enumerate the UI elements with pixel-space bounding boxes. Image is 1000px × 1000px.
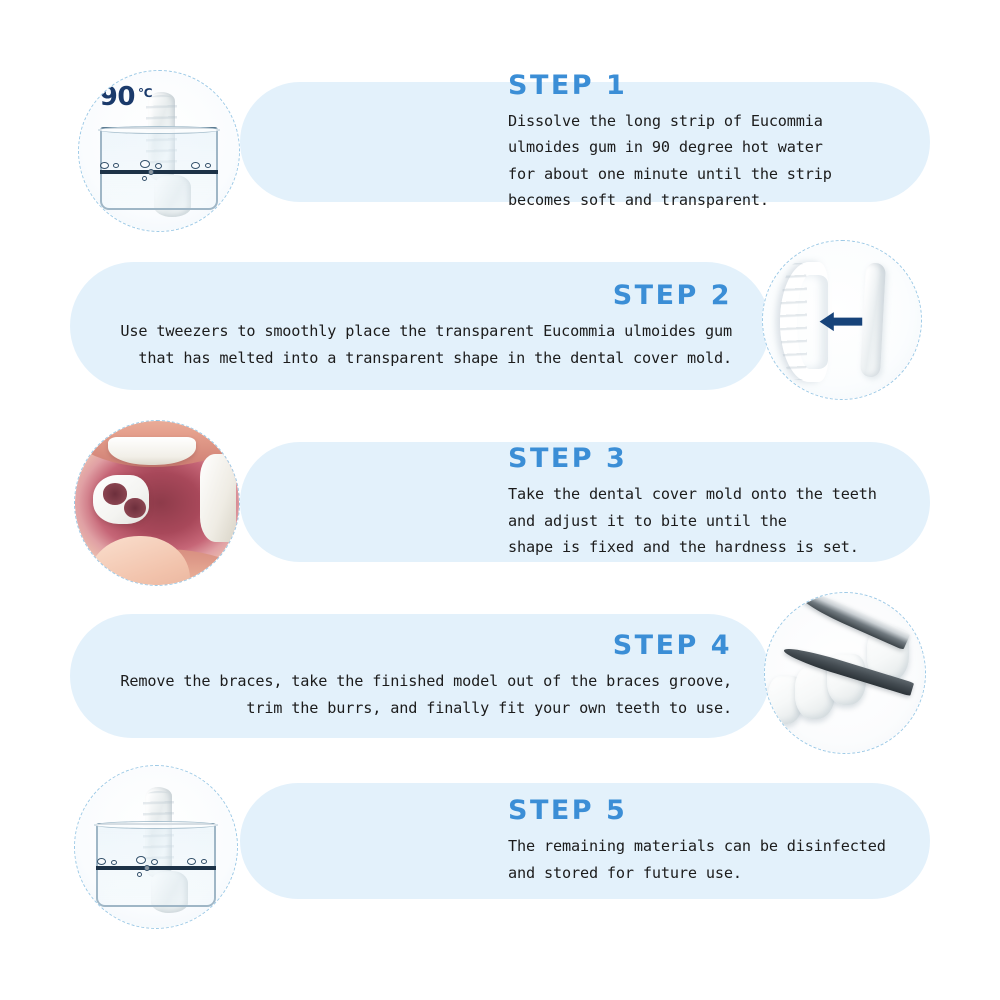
scissors-trimming-teeth-model-icon [765,593,925,753]
temperature-unit: ℃ [138,87,152,99]
step-title-1: STEP 1 [508,71,627,101]
dental-mold-and-gum-strip-with-arrow-icon [763,241,921,399]
glass-of-water-with-gum-strip-icon [75,766,237,928]
mouth-fitting-dental-mold-photo-icon [75,421,239,585]
step-image-3 [74,420,240,586]
step-row-5: STEP 5 The remaining materials can be di… [0,765,1000,935]
step-image-4 [764,592,926,754]
step-title-4: STEP 4 [613,631,732,661]
step-panel-2: STEP 2 Use tweezers to smoothly place th… [70,262,770,390]
step-body-5: The remaining materials can be disinfect… [508,833,890,885]
step-body-3: Take the dental cover mold onto the teet… [508,481,890,559]
step-panel-1: STEP 1 Dissolve the long strip of Eucomm… [240,82,930,202]
step-row-2: STEP 2 Use tweezers to smoothly place th… [0,240,1000,405]
step-image-5 [74,765,238,929]
step-panel-4: STEP 4 Remove the braces, take the finis… [70,614,770,738]
step-body-2: Use tweezers to smoothly place the trans… [120,318,732,370]
infographic-page: STEP 1 Dissolve the long strip of Eucomm… [0,0,1000,1000]
glass-of-hot-water-with-gum-strip-icon: 90 ℃ [79,71,239,231]
step-body-4: Remove the braces, take the finished mod… [120,668,732,720]
step-panel-3: STEP 3 Take the dental cover mold onto t… [240,442,930,562]
step-title-2: STEP 2 [613,281,732,311]
temperature-value: 90 [100,84,135,110]
step-title-3: STEP 3 [508,444,627,474]
step-row-3: STEP 3 Take the dental cover mold onto t… [0,420,1000,590]
temperature-badge-1: 90 ℃ [100,84,152,110]
step-row-1: STEP 1 Dissolve the long strip of Eucomm… [0,70,1000,235]
left-arrow-icon [818,309,865,334]
step-body-1: Dissolve the long strip of Eucommia ulmo… [508,108,890,213]
step-title-5: STEP 5 [508,796,627,826]
step-image-1: 90 ℃ [78,70,240,232]
step-image-2 [762,240,922,400]
step-panel-5: STEP 5 The remaining materials can be di… [240,783,930,899]
step-row-4: STEP 4 Remove the braces, take the finis… [0,592,1000,760]
